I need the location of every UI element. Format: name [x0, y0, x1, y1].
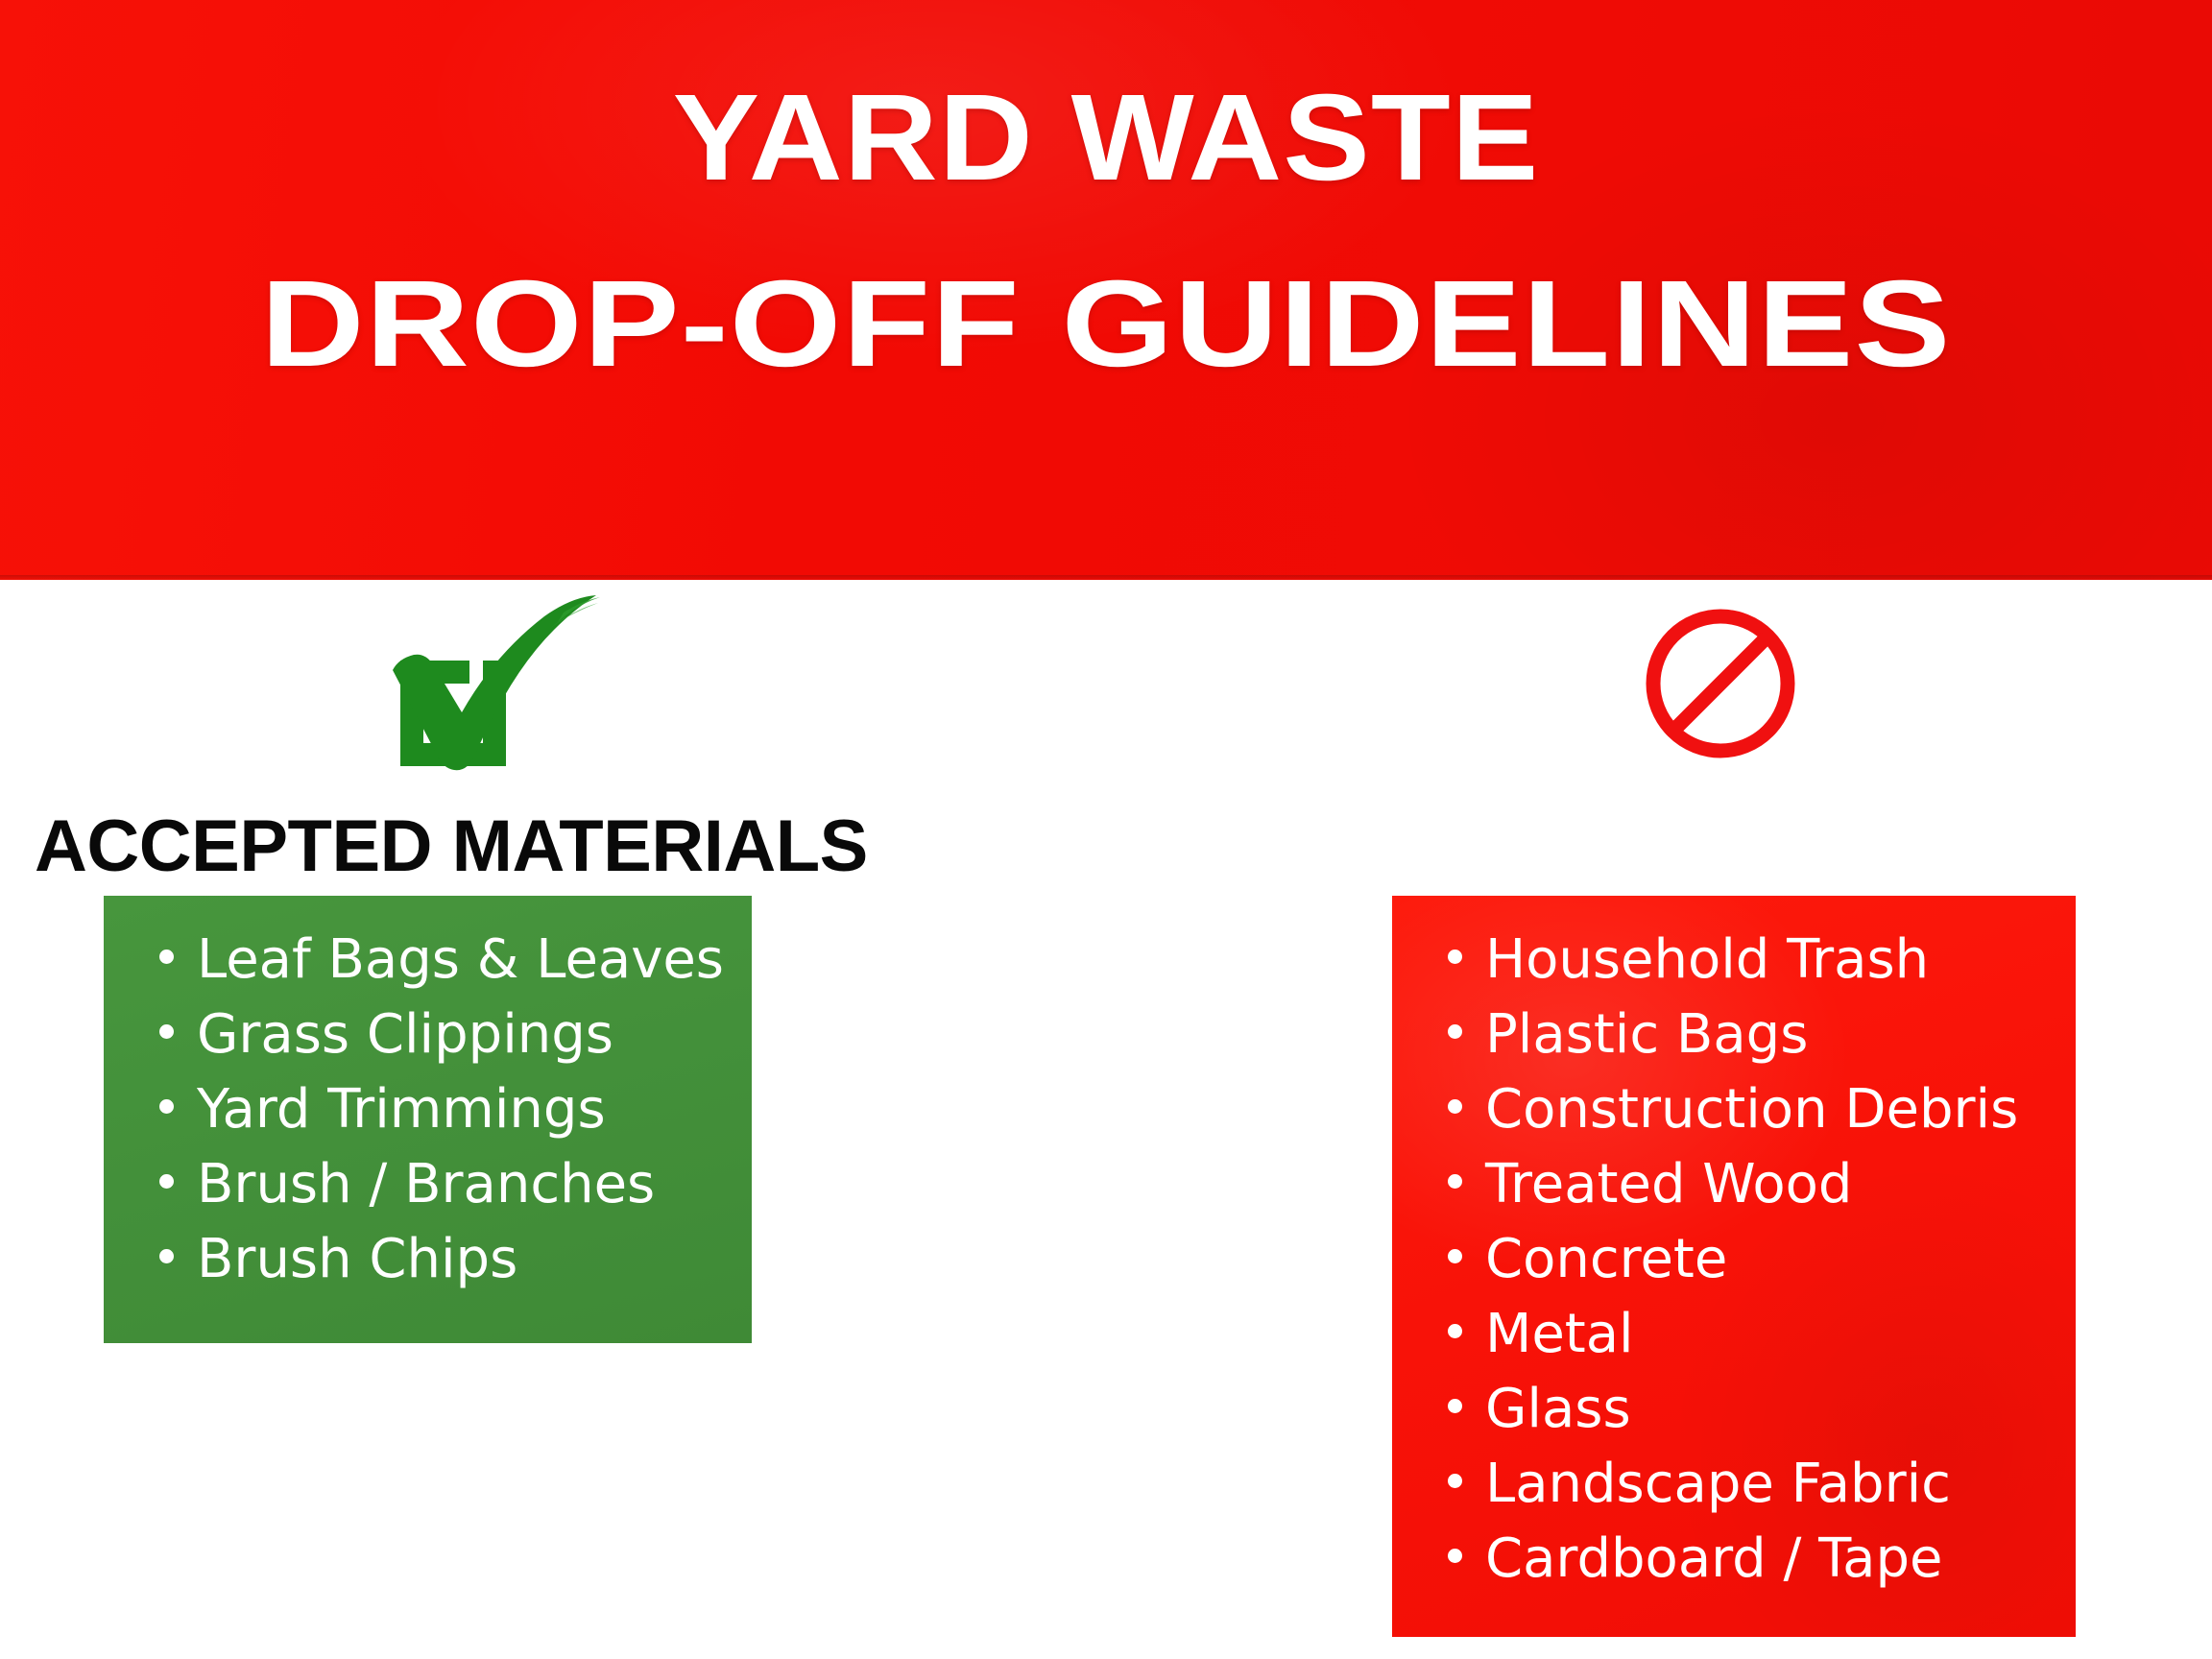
list-item-label: Leaf Bags & Leaves [197, 923, 724, 998]
list-item-label: Plastic Bags [1485, 998, 1808, 1072]
bullet-icon [1448, 1249, 1462, 1263]
list-item-label: Household Trash [1485, 923, 1929, 998]
bullet-icon [1448, 1174, 1462, 1189]
accepted-materials-list: Leaf Bags & Leaves Grass Clippings Yard … [159, 923, 723, 1297]
list-item: Treated Wood [1448, 1147, 2047, 1222]
prohibited-materials-section: PROHIBITED MATERIALS Household Trash Pla… [1106, 580, 2212, 1659]
bullet-icon [1448, 1324, 1462, 1338]
list-item: Concrete [1448, 1222, 2047, 1297]
list-item: Household Trash [1448, 923, 2047, 998]
list-item-label: Construction Debris [1485, 1072, 2018, 1147]
bullet-icon [1448, 1099, 1462, 1114]
bullet-icon [159, 1249, 174, 1263]
bullet-icon [1448, 1399, 1462, 1413]
list-item-label: Cardboard / Tape [1485, 1522, 1942, 1597]
header-banner: YARD WASTE DROP-OFF GUIDELINES [0, 0, 2212, 580]
list-item: Construction Debris [1448, 1072, 2047, 1147]
accepted-materials-heading: ACCEPTED MATERIALS [35, 810, 868, 883]
bullet-icon [1448, 1024, 1462, 1039]
list-item-label: Metal [1485, 1297, 1634, 1372]
list-item-label: Treated Wood [1485, 1147, 1852, 1222]
list-item-label: Brush Chips [197, 1222, 517, 1297]
bullet-icon [1448, 1474, 1462, 1488]
prohibited-materials-list: Household Trash Plastic Bags Constructio… [1448, 923, 2047, 1597]
bullet-icon [159, 1024, 174, 1039]
content-area: ACCEPTED MATERIALS Leaf Bags & Leaves Gr… [0, 580, 2212, 1659]
list-item: Yard Trimmings [159, 1072, 723, 1147]
prohibited-materials-box: Household Trash Plastic Bags Constructio… [1392, 896, 2076, 1637]
list-item: Plastic Bags [1448, 998, 2047, 1072]
no-entry-prohibition-icon [1629, 595, 1812, 773]
green-check-box-icon [370, 595, 610, 773]
title-line-2: DROP-OFF GUIDELINES [0, 263, 2212, 386]
title-line-1: YARD WASTE [0, 77, 2212, 200]
list-item: Metal [1448, 1297, 2047, 1372]
list-item: Glass [1448, 1372, 2047, 1447]
list-item-label: Grass Clippings [197, 998, 613, 1072]
list-item-label: Yard Trimmings [197, 1072, 606, 1147]
bullet-icon [159, 1099, 174, 1114]
list-item-label: Landscape Fabric [1485, 1447, 1951, 1522]
list-item: Grass Clippings [159, 998, 723, 1072]
bullet-icon [1448, 1549, 1462, 1563]
accepted-materials-section: ACCEPTED MATERIALS Leaf Bags & Leaves Gr… [0, 580, 1106, 1659]
list-item: Brush Chips [159, 1222, 723, 1297]
list-item: Brush / Branches [159, 1147, 723, 1222]
list-item: Landscape Fabric [1448, 1447, 2047, 1522]
list-item-label: Brush / Branches [197, 1147, 655, 1222]
bullet-icon [1448, 950, 1462, 964]
bullet-icon [159, 950, 174, 964]
list-item-label: Glass [1485, 1372, 1631, 1447]
list-item-label: Concrete [1485, 1222, 1727, 1297]
bullet-icon [159, 1174, 174, 1189]
accepted-materials-box: Leaf Bags & Leaves Grass Clippings Yard … [104, 896, 752, 1343]
list-item: Cardboard / Tape [1448, 1522, 2047, 1597]
list-item: Leaf Bags & Leaves [159, 923, 723, 998]
page-title: YARD WASTE DROP-OFF GUIDELINES [0, 77, 2212, 386]
